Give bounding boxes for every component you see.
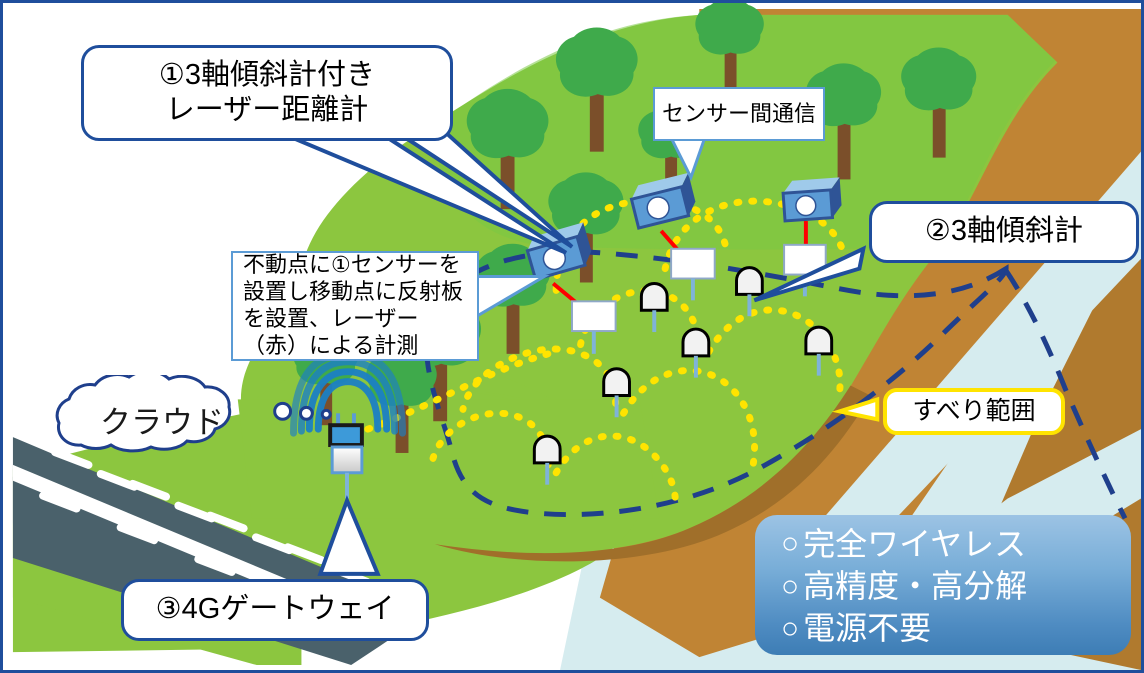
callout-slip-label: すべり範囲 <box>912 396 1035 427</box>
feature-item-no-power: ○ 電源不要 <box>781 607 1131 649</box>
bullet-icon: ○ <box>781 609 799 649</box>
feature-item-wireless-label: 完全ワイヤレス <box>803 523 1026 565</box>
callout-tail-tilt <box>754 249 863 301</box>
callout-measurement-note[interactable]: 不動点に①センサーを 設置し移動点に反射板 を設置、レーザー （赤）による計測 <box>231 251 479 361</box>
callout-tail-slip <box>840 399 878 419</box>
feature-item-precision: ○ 高精度・高分解 <box>781 565 1131 607</box>
callout-tail-comm <box>671 138 705 178</box>
callout-tail-gateway <box>320 501 377 574</box>
callout-tail-note <box>477 277 544 317</box>
callout-sensor-communication[interactable]: センサー間通信 <box>653 87 825 141</box>
callout-gateway-label: ③4Gゲートウェイ <box>156 592 395 627</box>
callout-comm-label: センサー間通信 <box>662 101 816 128</box>
callout-tilt-meter[interactable]: ②3軸傾斜計 <box>869 201 1139 263</box>
callout-slip-range[interactable]: すべり範囲 <box>883 388 1065 435</box>
diagram-frame: クラウド ①3軸傾斜計付き レーザー距離計 ②3軸傾斜計 ③4Gゲートウェイ 不… <box>0 0 1144 673</box>
cloud-label: クラウド <box>41 375 283 469</box>
callout-laser-label: ①3軸傾斜計付き レーザー距離計 <box>159 58 375 129</box>
cloud-shape: クラウド <box>41 375 283 469</box>
feature-item-precision-label: 高精度・高分解 <box>803 565 1027 607</box>
callout-note-label: 不動点に①センサーを 設置し移動点に反射板 を設置、レーザー （赤）による計測 <box>243 252 463 359</box>
callout-laser-rangefinder[interactable]: ①3軸傾斜計付き レーザー距離計 <box>81 45 453 141</box>
feature-item-wireless: ○ 完全ワイヤレス <box>781 523 1131 565</box>
callout-4g-gateway[interactable]: ③4Gゲートウェイ <box>121 579 429 641</box>
bullet-icon: ○ <box>781 524 799 564</box>
callout-tilt-label: ②3軸傾斜計 <box>925 214 1083 249</box>
feature-item-no-power-label: 電源不要 <box>803 607 931 649</box>
feature-panel: ○ 完全ワイヤレス ○ 高精度・高分解 ○ 電源不要 <box>755 515 1131 655</box>
bullet-icon: ○ <box>781 567 799 607</box>
